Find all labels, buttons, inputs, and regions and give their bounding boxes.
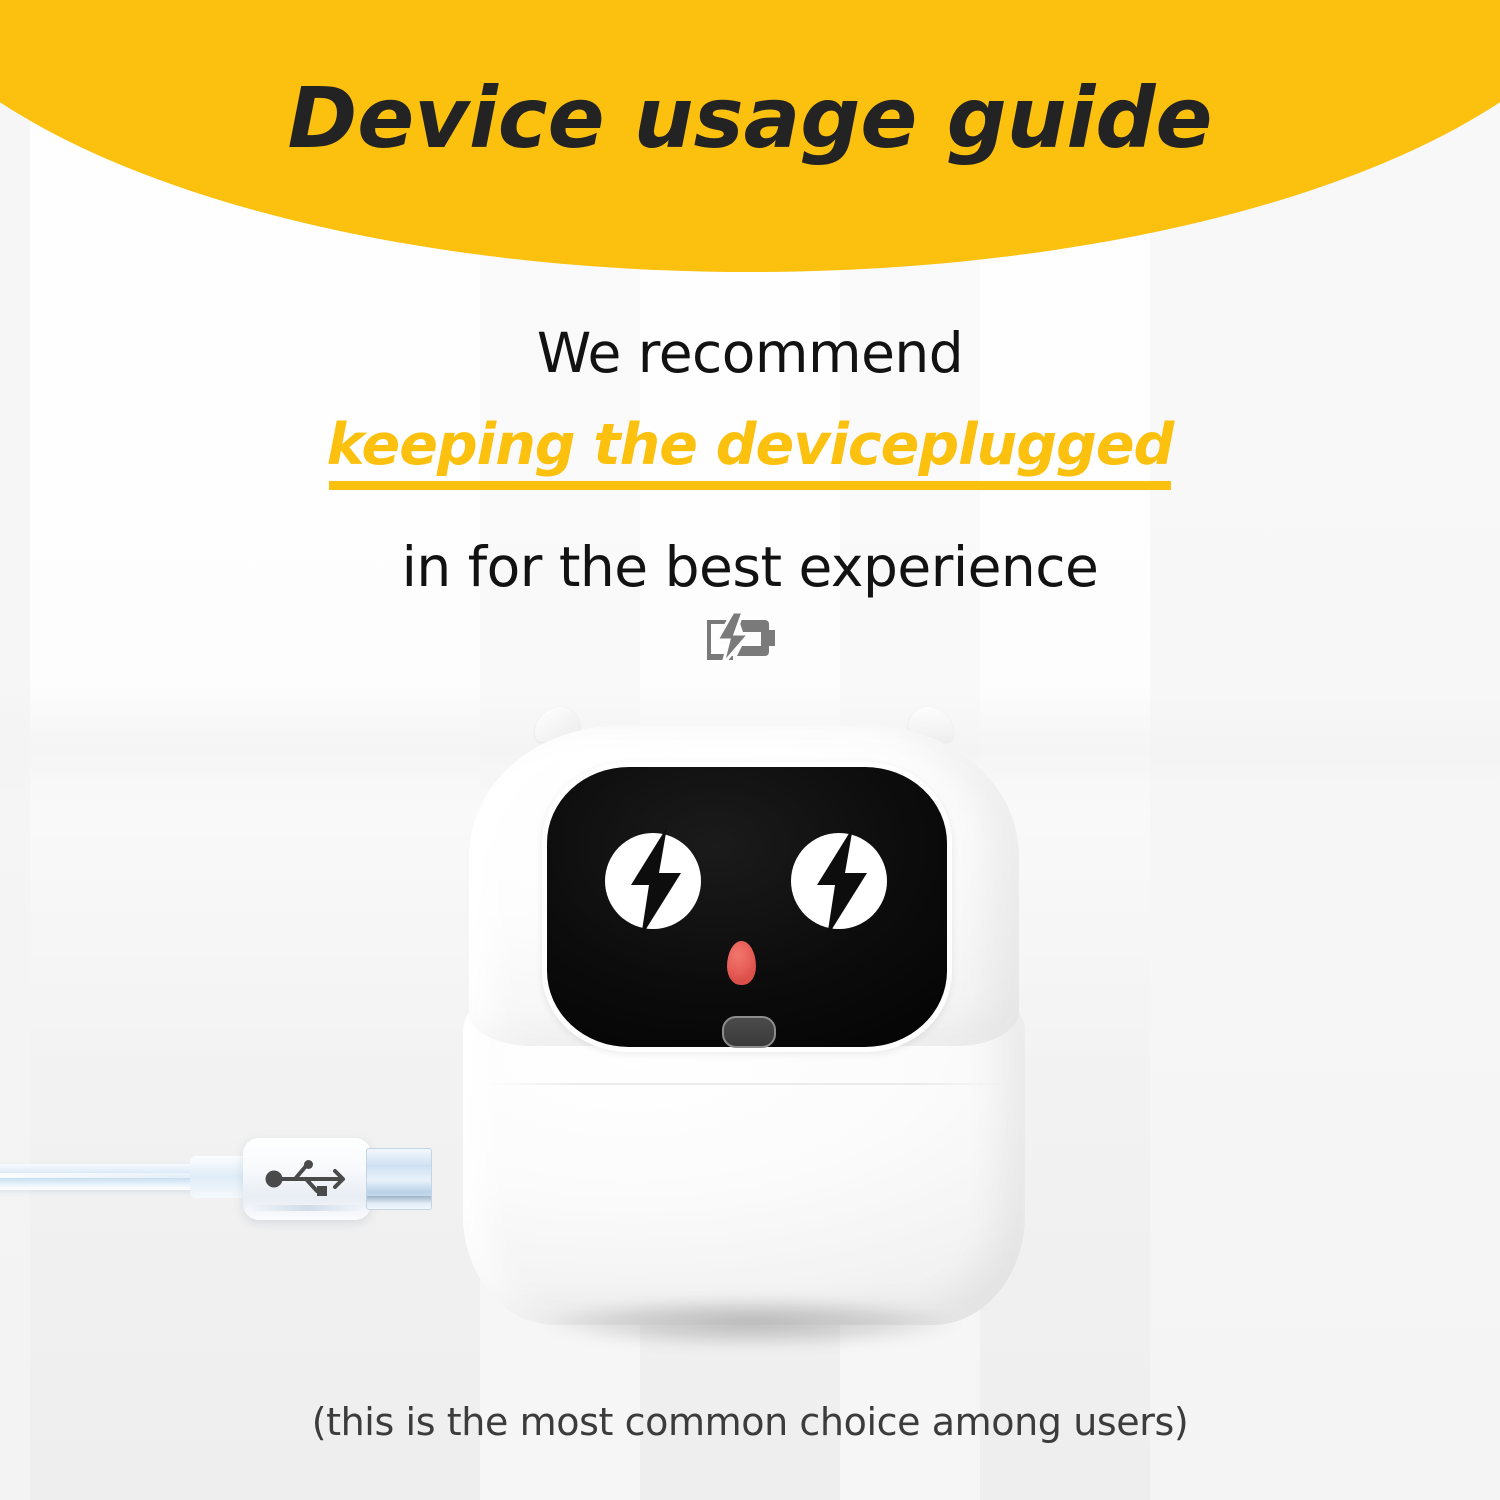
device-home-button[interactable] <box>722 1016 776 1048</box>
device-shadow <box>468 1290 1034 1356</box>
page-title: Device usage guide <box>288 69 1213 167</box>
device-eye-right <box>791 833 887 929</box>
usb-charging-cable <box>0 1120 440 1260</box>
battery-charging-icon <box>703 612 783 664</box>
footer-caption: (this is the most common choice among us… <box>0 1400 1500 1444</box>
recommendation-highlight: keeping the deviceplugged <box>327 412 1174 478</box>
recommendation-highlight-text: keeping the deviceplugged <box>327 412 1174 478</box>
device-nose-indicator <box>727 941 756 985</box>
recommendation-underline <box>329 481 1172 490</box>
device-illustration <box>455 700 1045 1325</box>
usb-trident-icon <box>265 1160 351 1198</box>
usb-connector-tip <box>366 1148 432 1210</box>
device-seam-line <box>485 1083 1005 1085</box>
recommendation-line-top: We recommend <box>0 318 1500 388</box>
recommendation-line-bottom: in for the best experience <box>0 532 1500 602</box>
usb-connector-shell <box>243 1138 371 1220</box>
device-eye-left <box>605 833 701 929</box>
header-title-container: Device usage guide <box>0 0 1500 272</box>
device-usage-guide-page: Device usage guide We recommend keeping … <box>0 0 1500 1500</box>
recommendation-block: We recommend keeping the deviceplugged i… <box>0 318 1500 603</box>
